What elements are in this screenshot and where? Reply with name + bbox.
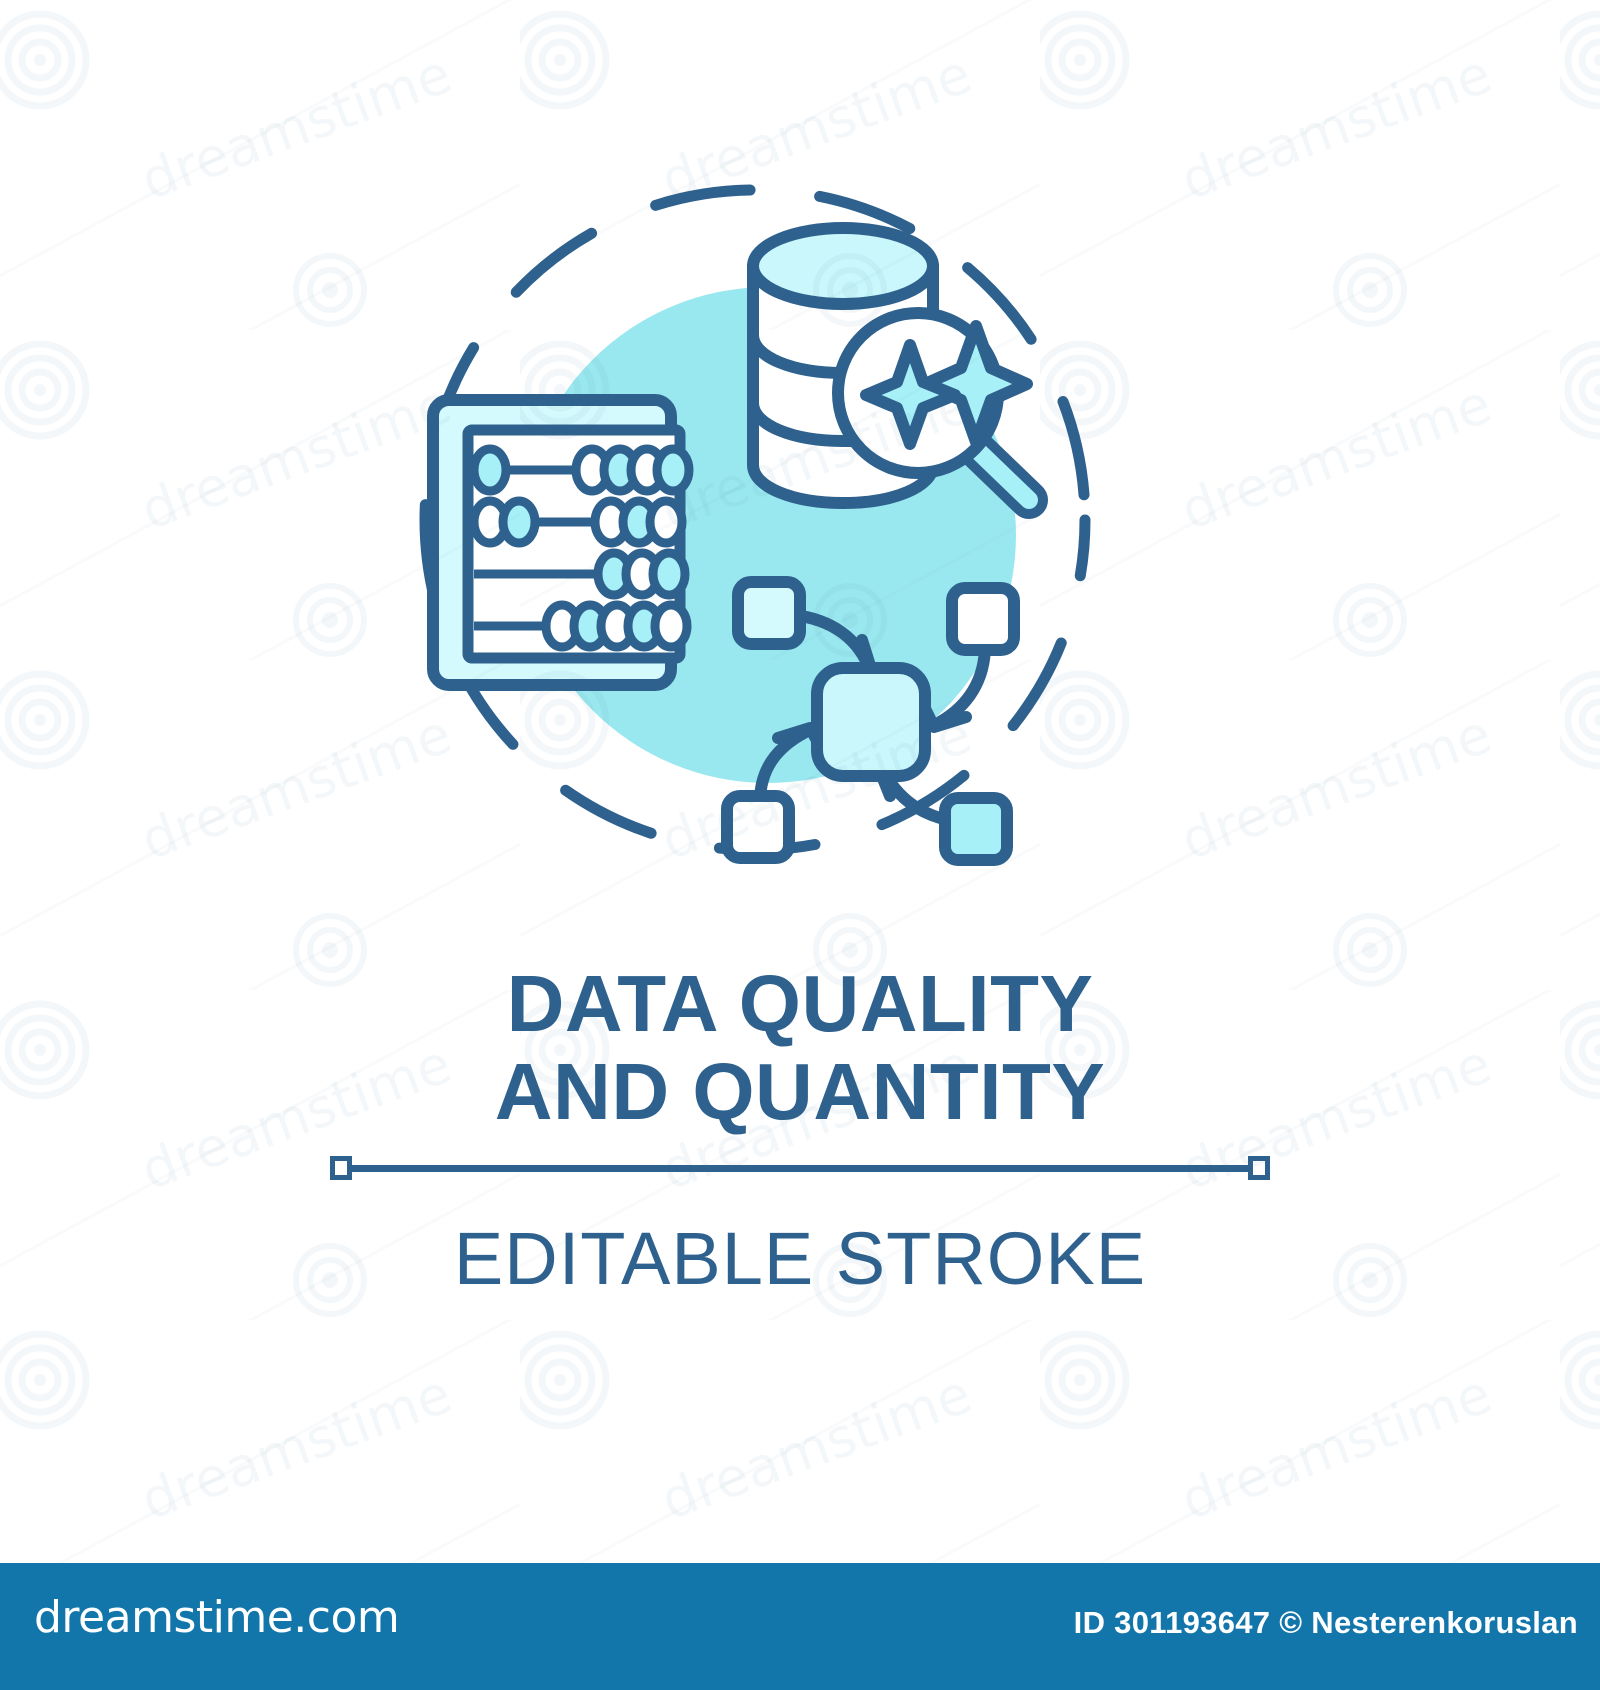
title-line-2: AND QUANTITY xyxy=(0,1048,1600,1136)
node-bottom-right xyxy=(945,798,1007,860)
editable-stroke-block: EDITABLE STROKE xyxy=(0,1148,1600,1301)
node-bottom-left xyxy=(727,796,789,858)
page-title: DATA QUALITY AND QUANTITY xyxy=(0,960,1600,1136)
abacus-icon xyxy=(433,400,689,685)
abacus-row-1 xyxy=(474,449,689,491)
concept-illustration xyxy=(0,0,1600,960)
stroke-right-handle-icon xyxy=(1248,1156,1270,1180)
node-top-left xyxy=(738,582,800,644)
stroke-line xyxy=(348,1165,1252,1172)
dreamstime-logo[interactable]: dreamstime.com xyxy=(34,1593,399,1643)
center-node xyxy=(817,668,925,776)
title-line-1: DATA QUALITY xyxy=(0,960,1600,1048)
footer-credit: ID 301193647 © Nesterenkoruslan xyxy=(1074,1605,1578,1641)
editable-stroke-caption: EDITABLE STROKE xyxy=(0,1216,1600,1301)
database-top-disc xyxy=(753,228,933,304)
stroke-sample-rule xyxy=(330,1148,1270,1188)
footer-bar: dreamstime.com ID 301193647 © Nesterenko… xyxy=(0,1563,1600,1690)
node-top-right xyxy=(952,588,1014,650)
